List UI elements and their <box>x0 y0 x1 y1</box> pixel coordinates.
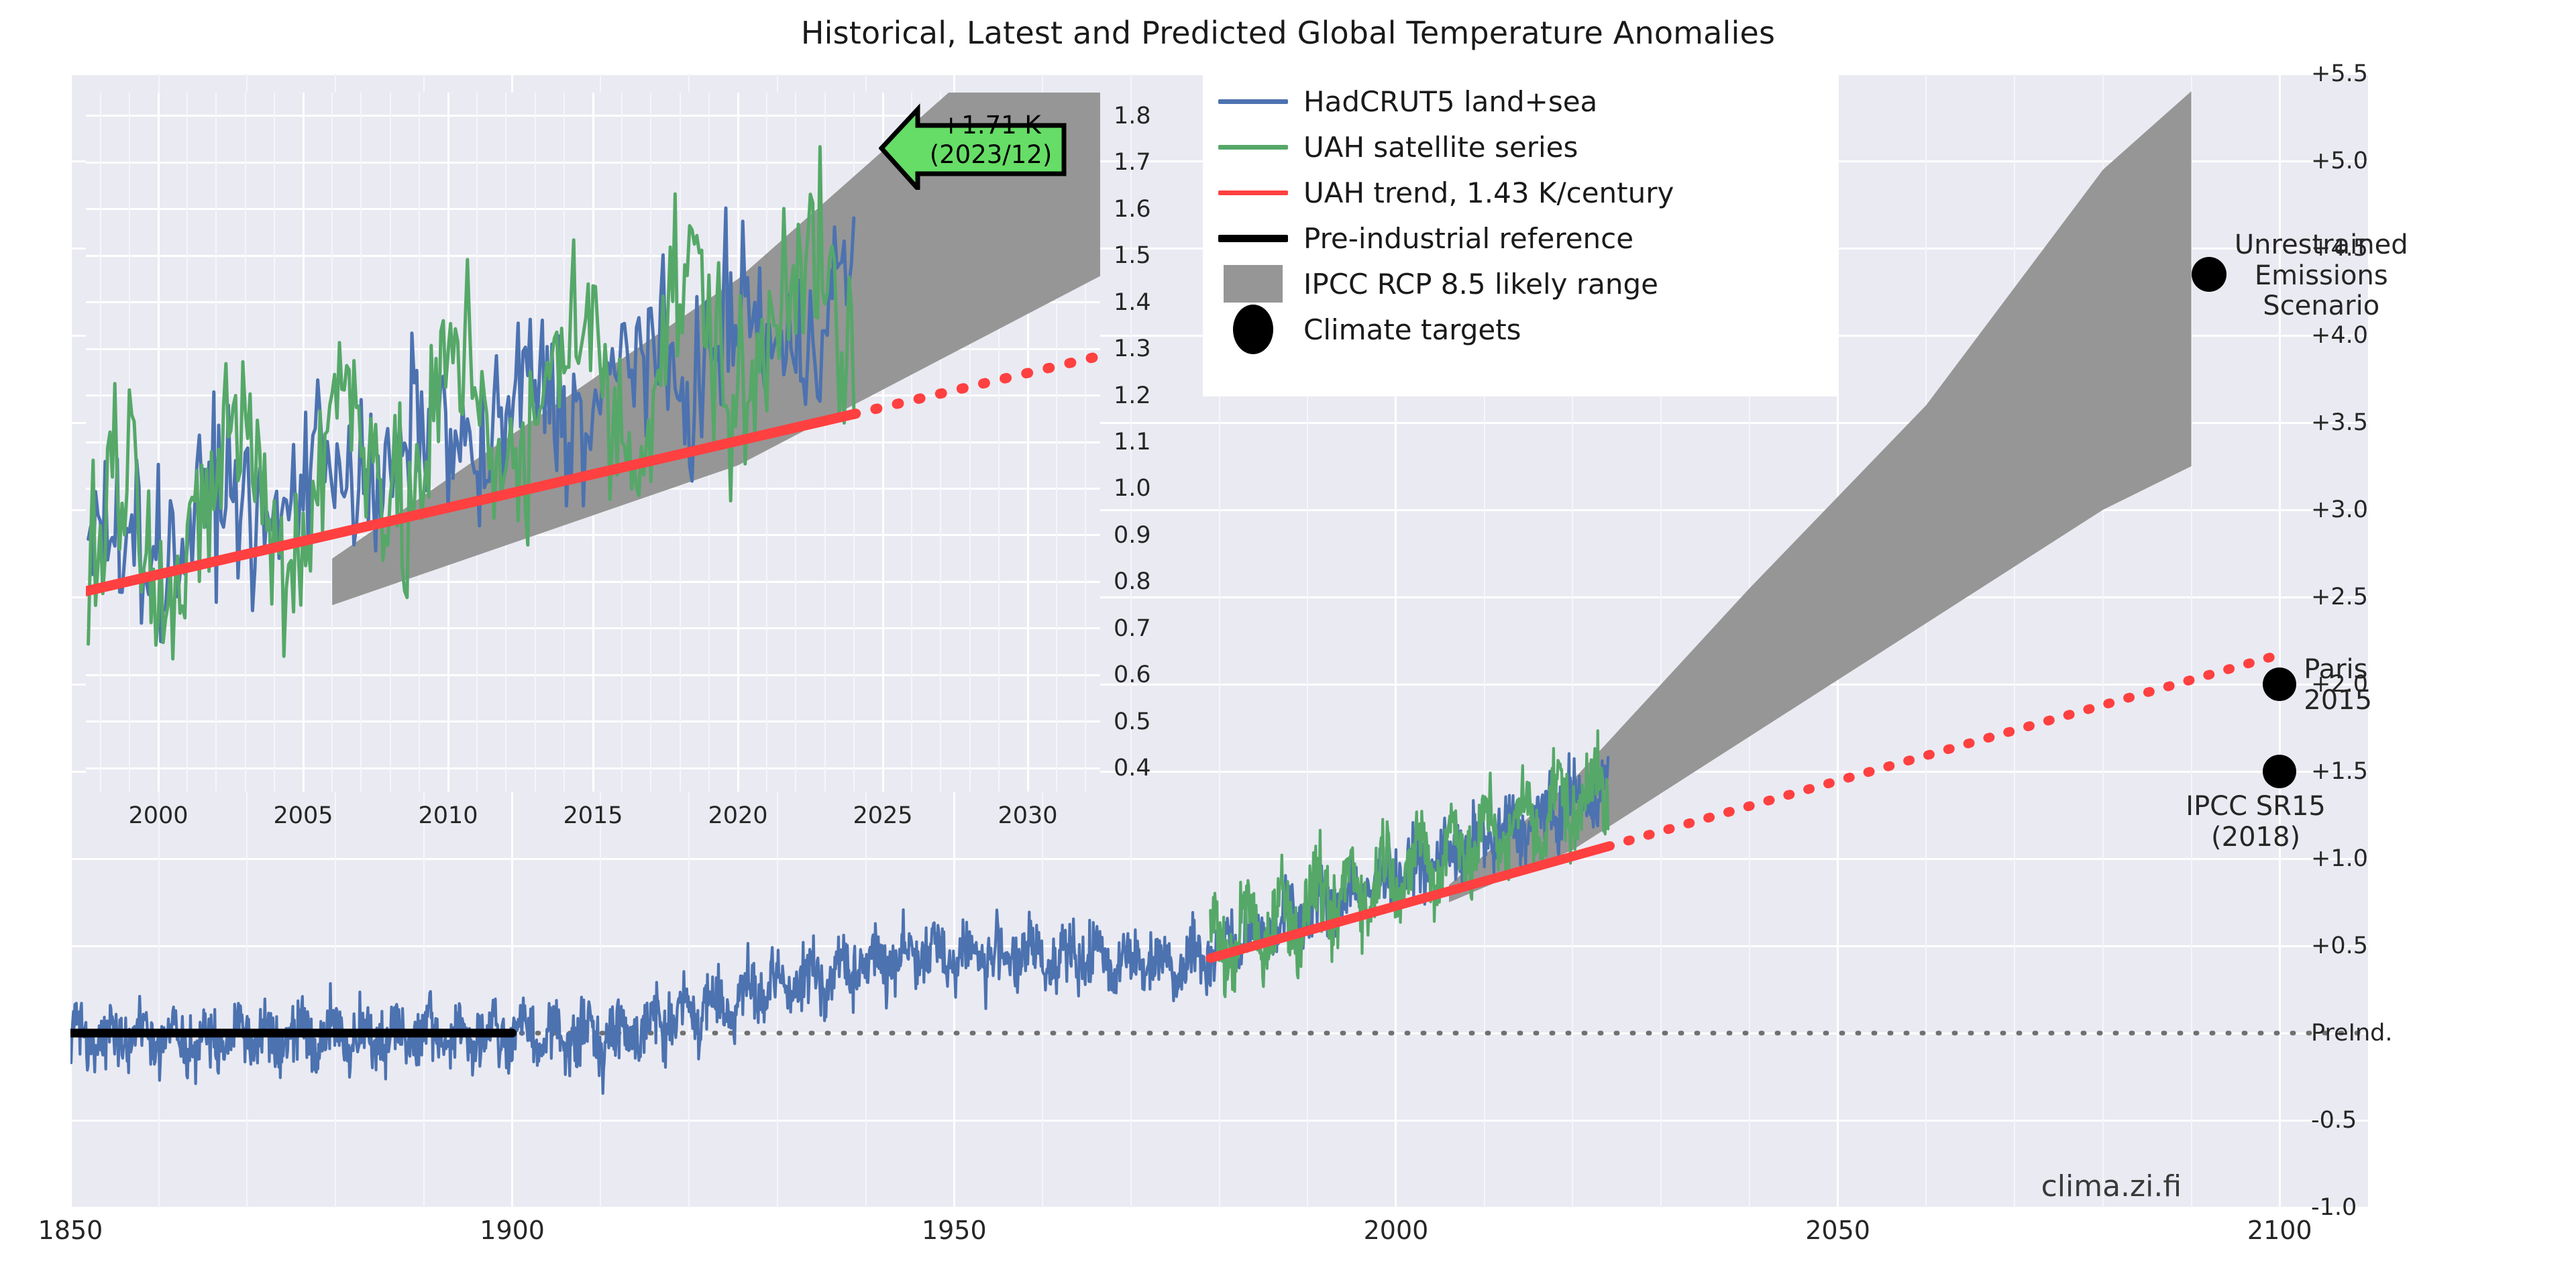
legend-line-swatch <box>1218 191 1288 195</box>
legend-line-swatch <box>1218 235 1288 242</box>
climate-target-marker <box>2192 257 2226 292</box>
y-axis-tick-label: +4.0 <box>2311 322 2368 349</box>
annotation-line: Unrestrained <box>2235 230 2408 261</box>
latest-anomaly-date: (2023/12) <box>920 140 1061 170</box>
inset-y-axis-tick-label: 0.5 <box>1114 708 1151 735</box>
inset-y-axis-tick-label: 1.8 <box>1114 103 1151 129</box>
y-axis-tick-label: +5.5 <box>2311 60 2368 87</box>
annotation-ipcc-sr15: IPCC SR15(2018) <box>2186 792 2326 853</box>
x-axis-tick-label: 2100 <box>2247 1216 2312 1245</box>
annotation-line: Paris <box>2304 655 2372 686</box>
inset-x-axis-tick-label: 2010 <box>418 802 478 829</box>
y-axis-tick-label: +3.5 <box>2311 409 2368 436</box>
inset-y-axis-tick-label: 0.7 <box>1114 615 1151 642</box>
legend-line-swatch <box>1218 145 1288 150</box>
x-axis-tick-label: 1950 <box>922 1216 987 1245</box>
annotation-line: IPCC SR15 <box>2186 792 2326 822</box>
y-axis-tick-label: -1.0 <box>2311 1194 2357 1221</box>
legend-key-marker <box>1203 305 1303 354</box>
x-axis-tick-label: 2000 <box>1364 1216 1429 1245</box>
climate-target-marker <box>2263 667 2296 701</box>
annotation-unrestrained-emissions: UnrestrainedEmissionsScenario <box>2235 230 2408 322</box>
inset-x-axis-tick-label: 2015 <box>563 802 623 829</box>
legend-item-label: UAH trend, 1.43 K/century <box>1303 176 1674 209</box>
inset-y-axis-tick-label: 1.4 <box>1114 289 1151 316</box>
y-axis-tick-label: PreInd. <box>2311 1020 2393 1046</box>
y-axis-tick-label: +3.0 <box>2311 496 2368 523</box>
legend-item-label: UAH satellite series <box>1303 131 1578 164</box>
legend-item[interactable]: UAH trend, 1.43 K/century <box>1203 170 1674 215</box>
x-axis-tick-label: 1850 <box>38 1216 103 1245</box>
inset-y-axis-tick-label: 1.7 <box>1114 149 1151 176</box>
inset-x-axis-tick-label: 2025 <box>853 802 912 829</box>
annotation-paris-2015: Paris2015 <box>2304 655 2372 716</box>
inset-y-axis-tick-label: 0.4 <box>1114 755 1151 782</box>
legend-key-line <box>1203 191 1303 195</box>
inset-y-axis-tick-label: 0.9 <box>1114 522 1151 549</box>
inset-plot-area <box>86 93 1100 792</box>
inset-y-axis-tick-label: 0.6 <box>1114 661 1151 688</box>
inset-y-axis-tick-label: 1.0 <box>1114 475 1151 502</box>
inset-chart-axes <box>86 93 1100 792</box>
annotation-line: Emissions <box>2235 261 2408 292</box>
inset-x-axis-tick-label: 2000 <box>128 802 188 829</box>
legend-circle-marker <box>1233 305 1273 354</box>
legend-item-label: Pre-industrial reference <box>1303 222 1633 255</box>
legend-item-label: IPCC RCP 8.5 likely range <box>1303 268 1658 301</box>
latest-anomaly-callout: +1.71 K (2023/12) <box>879 96 1067 190</box>
inset-x-axis-tick-label: 2020 <box>708 802 767 829</box>
legend-item[interactable]: UAH satellite series <box>1203 124 1578 170</box>
inset-x-axis-tick-label: 2030 <box>998 802 1057 829</box>
annotation-line: 2015 <box>2304 686 2372 716</box>
legend-key-line <box>1203 145 1303 150</box>
legend-key-line-thick <box>1203 235 1303 242</box>
y-axis-tick-label: +2.5 <box>2311 584 2368 610</box>
x-axis-tick-label: 2050 <box>1805 1216 1870 1245</box>
y-axis-tick-label: -0.5 <box>2311 1107 2357 1134</box>
legend-item[interactable]: IPCC RCP 8.5 likely range <box>1203 261 1658 307</box>
inset-y-axis-tick-label: 1.3 <box>1114 335 1151 362</box>
y-axis-tick-label: +0.5 <box>2311 932 2368 959</box>
annotation-line: (2018) <box>2186 822 2326 853</box>
inset-y-axis-tick-label: 1.2 <box>1114 382 1151 409</box>
annotation-line: Scenario <box>2235 291 2408 322</box>
legend-patch-swatch <box>1224 265 1283 303</box>
inset-y-axis-tick-label: 1.1 <box>1114 429 1151 455</box>
legend-item[interactable]: Pre-industrial reference <box>1203 215 1633 261</box>
legend-key-line <box>1203 99 1303 104</box>
legend-item-label: HadCRUT5 land+sea <box>1303 85 1597 118</box>
inset-chart: 0.40.50.60.70.80.91.01.11.21.31.41.51.61… <box>0 0 1207 845</box>
legend-line-swatch <box>1218 99 1288 104</box>
inset-y-axis-tick-label: 0.8 <box>1114 568 1151 595</box>
inset-y-axis-tick-label: 1.6 <box>1114 196 1151 223</box>
inset-series-svg <box>86 93 1100 792</box>
y-axis-tick-label: +1.5 <box>2311 758 2368 785</box>
climate-target-marker <box>2263 755 2296 788</box>
chart-legend: HadCRUT5 land+seaUAH satellite seriesUAH… <box>1203 64 1838 396</box>
watermark: clima.zi.fi <box>2041 1169 2182 1203</box>
legend-item[interactable]: Climate targets <box>1203 307 1521 352</box>
inset-x-axis-tick-label: 2005 <box>273 802 333 829</box>
latest-anomaly-text: +1.71 K (2023/12) <box>920 111 1061 170</box>
legend-key-patch <box>1203 265 1303 303</box>
latest-anomaly-value: +1.71 K <box>920 111 1061 140</box>
inset-y-axis-tick-label: 1.5 <box>1114 242 1151 269</box>
legend-item[interactable]: HadCRUT5 land+sea <box>1203 78 1597 124</box>
x-axis-tick-label: 1900 <box>480 1216 545 1245</box>
y-axis-tick-label: +5.0 <box>2311 148 2368 174</box>
legend-item-label: Climate targets <box>1303 313 1521 346</box>
